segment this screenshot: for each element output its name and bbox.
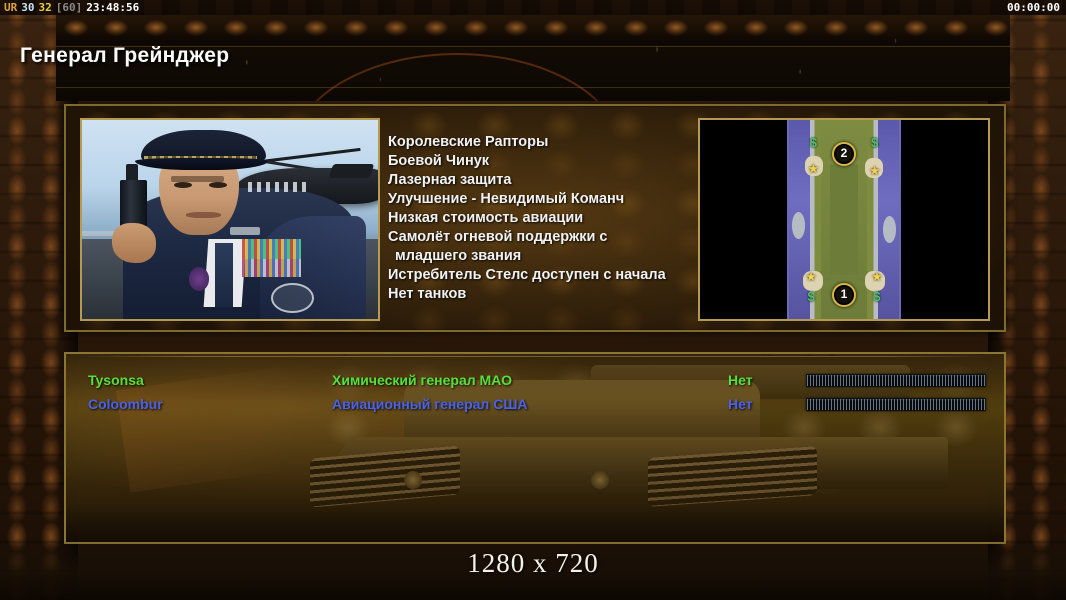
portrait-eye-left: [174, 182, 192, 188]
player-name: Coloombur: [88, 392, 163, 416]
ability-item: Истребитель Стелс доступен с начала: [388, 266, 718, 285]
player-army[interactable]: Химический генерал МАО: [332, 368, 512, 392]
supply-dock-icon: $: [810, 136, 817, 149]
player-list-panel: Имя игрока Армия Команда Прогресс Tysons…: [64, 352, 1006, 544]
portrait-emblem-badge: [271, 283, 313, 313]
portrait-tie: [215, 243, 233, 307]
player-army[interactable]: Авиационный генерал США: [332, 392, 528, 416]
system-clock: 23:48:56: [86, 1, 139, 14]
ability-item: Лазерная защита: [388, 171, 718, 190]
tech-building-star-icon: ★: [808, 162, 820, 175]
system-stats: UR3032[60]23:48:56: [4, 0, 143, 15]
map-land-waist: [830, 164, 857, 275]
player-name: Tysonsa: [88, 368, 144, 392]
helicopter-tail-icon: [328, 164, 374, 178]
tech-building-star-icon: ★: [805, 270, 817, 283]
status-bar-texture: [0, 0, 1066, 15]
portrait-hand: [112, 223, 156, 263]
system-status-bar: UR3032[60]23:48:56 00:00:00: [0, 0, 1066, 15]
table-row[interactable]: ColoomburАвиационный генерал СШАНет: [66, 392, 1004, 416]
tech-building-star-icon: ★: [869, 164, 881, 177]
portrait-mouth: [186, 212, 222, 218]
player-team[interactable]: Нет: [728, 392, 753, 416]
portrait-wings-badge: [230, 227, 260, 235]
ability-item: младшего звания: [388, 247, 718, 266]
player-progress-bar: [806, 398, 986, 411]
column-header-team: Команда: [718, 352, 778, 353]
match-timer: 00:00:00: [1007, 0, 1060, 15]
player-team[interactable]: Нет: [728, 368, 753, 392]
portrait-rank-stars: [248, 182, 307, 192]
general-abilities-list: Королевские РапторыБоевой ЧинукЛазерная …: [388, 133, 718, 304]
stat-value-1: 30: [21, 1, 34, 14]
portrait-ribbons-row-1: [242, 239, 301, 259]
general-portrait: [80, 118, 380, 321]
supply-dock-icon: $: [871, 136, 878, 149]
stat-prefix: UR: [4, 1, 17, 14]
ability-item: Нет танков: [388, 285, 718, 304]
app-root: UR3032[60]23:48:56 00:00:00 Генерал Грей…: [0, 0, 1066, 600]
general-info-panel: Королевские РапторыБоевой ЧинукЛазерная …: [64, 104, 1006, 332]
resolution-caption: 1280 x 720: [0, 548, 1066, 579]
table-header-divider: [80, 356, 990, 357]
column-header-army: Армия: [332, 352, 378, 353]
column-header-name: Имя игрока: [88, 352, 167, 353]
portrait-ribbons-row-2: [242, 259, 301, 277]
supply-dock-icon: $: [808, 290, 815, 303]
start-position-1[interactable]: 1: [832, 283, 856, 307]
portrait-brow: [171, 176, 224, 182]
start-position-2[interactable]: 2: [832, 142, 856, 166]
ability-item: Низкая стоимость авиации: [388, 209, 718, 228]
ability-item: Самолёт огневой поддержки с: [388, 228, 718, 247]
tech-building-star-icon: ★: [871, 270, 883, 283]
stat-bracket: [60]: [56, 1, 83, 14]
ability-item: Боевой Чинук: [388, 152, 718, 171]
ability-item: Королевские Рапторы: [388, 133, 718, 152]
player-progress-bar: [806, 374, 986, 387]
map-terrain: $ $ ★ ★ 2 ★ ★ $ $ 1: [787, 120, 901, 319]
map-preview[interactable]: $ $ ★ ★ 2 ★ ★ $ $ 1: [698, 118, 990, 321]
supply-dock-icon: $: [873, 290, 880, 303]
player-table: Имя игрока Армия Команда Прогресс Tysons…: [66, 354, 1004, 542]
stat-value-2: 32: [39, 1, 52, 14]
portrait-eye-right: [209, 182, 227, 188]
ability-item: Улучшение - Невидимый Команч: [388, 190, 718, 209]
column-header-progress: Прогресс: [796, 352, 861, 353]
table-row[interactable]: TysonsaХимический генерал МАОНет: [66, 368, 1004, 392]
page-title: Генерал Грейнджер: [20, 44, 229, 68]
